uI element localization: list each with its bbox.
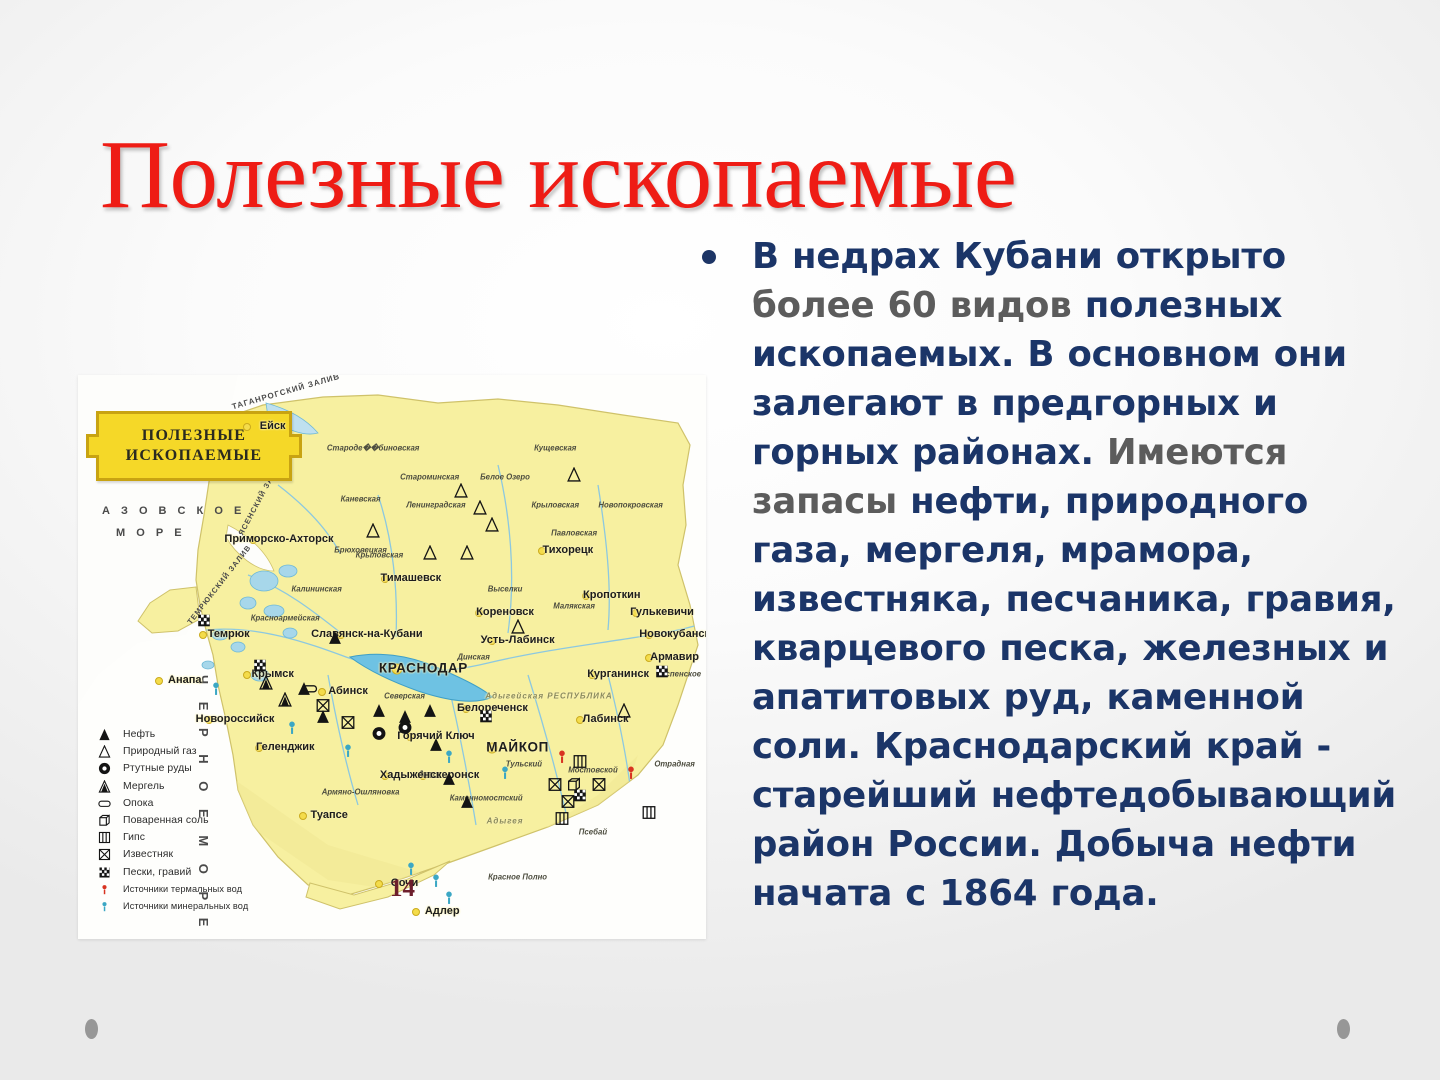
city-label: Ейск xyxy=(260,420,286,432)
city-label: Кропоткин xyxy=(583,589,641,601)
city-label: Староминская xyxy=(400,472,459,481)
cube-map-marker xyxy=(567,777,582,797)
outline-triangle-map-marker xyxy=(485,517,500,537)
page-number: 14 xyxy=(390,875,415,903)
city-label: Крыловская xyxy=(531,500,579,509)
city-label: Северская xyxy=(384,692,425,701)
legend-label: Нефть xyxy=(123,729,155,740)
outline-triangle-map-marker xyxy=(366,523,381,543)
legend-row-red-pin: Источники термальных вод xyxy=(94,881,324,898)
slide-root: Полезные ископаемые В недрах Кубани откр… xyxy=(0,0,1440,1080)
city-label: Брюховецкая xyxy=(334,545,387,554)
outline-triangle-map-marker xyxy=(617,703,632,723)
crossed-square-icon xyxy=(94,847,114,862)
legend-row-split-square: Гипс xyxy=(94,829,324,846)
city-label: Динская xyxy=(457,653,489,662)
city-marker-dot xyxy=(412,908,420,916)
city-label: Абинск xyxy=(328,685,368,697)
legend-row-rounded-rect: Опока xyxy=(94,795,324,812)
legend-label: Опока xyxy=(123,798,154,809)
decorative-dot-right xyxy=(1337,1019,1350,1039)
rounded-rect-map-marker xyxy=(303,681,318,701)
red-pin-map-marker xyxy=(623,765,638,785)
paragraph-segment-0: В недрах Кубани открыто xyxy=(752,236,1286,277)
legend-label: Поваренная соль xyxy=(123,815,209,826)
page-title: Полезные ископаемые xyxy=(100,126,1410,223)
city-label: Малякская xyxy=(553,602,595,611)
legend-label: Гипс xyxy=(123,832,145,843)
city-label: КРАСНОДАР xyxy=(379,661,468,676)
city-label: Курганинск xyxy=(587,668,649,680)
filled-triangle-map-marker xyxy=(460,794,475,814)
city-label: Темрюк xyxy=(208,628,250,640)
checker-square-icon xyxy=(94,865,114,880)
paragraph-segment-4: нефти, природного газа, мергеля, мрамора… xyxy=(752,481,1396,914)
city-label: Новопокровская xyxy=(598,500,663,509)
filled-triangle-map-marker xyxy=(328,630,343,650)
city-label: Староде��биновская xyxy=(327,444,419,453)
red-pin-icon xyxy=(94,882,114,897)
crossed-square-map-marker xyxy=(592,777,607,797)
city-marker-dot xyxy=(318,688,326,696)
filled-ring-map-marker xyxy=(372,726,387,746)
filled-ring-map-marker xyxy=(397,720,412,740)
legend-label: Ртутные руды xyxy=(123,763,192,774)
city-label: Приморско-Ахторск xyxy=(224,533,333,545)
legend-label: Пески, гравий xyxy=(123,867,191,878)
city-label: Адыгея xyxy=(487,816,524,825)
bullet-list-item: В недрах Кубани открыто более 60 видов п… xyxy=(694,232,1406,918)
city-label: Кореновск xyxy=(476,606,534,618)
city-label: Калининская xyxy=(291,585,341,594)
paragraph-segment-1: более 60 видов xyxy=(752,285,1085,326)
city-label: Псебай xyxy=(579,827,607,836)
filled-triangle-map-marker xyxy=(372,703,387,723)
city-marker-dot xyxy=(375,880,383,888)
city-label: Выселки xyxy=(488,585,523,594)
map-legend: НефтьПриродный газРтутные рудыМергельОпо… xyxy=(94,726,324,915)
legend-label: Известняк xyxy=(123,849,173,860)
checker-square-map-marker xyxy=(479,709,494,729)
legend-row-checker-square: Пески, гравий xyxy=(94,863,324,880)
city-marker-dot xyxy=(243,423,251,431)
city-label: Белое Озеро xyxy=(480,472,530,481)
legend-row-filled-triangle: Нефть xyxy=(94,726,324,743)
city-label: Анапа xyxy=(168,674,201,686)
split-square-icon xyxy=(94,830,114,845)
outline-triangle-map-marker xyxy=(460,545,475,565)
legend-row-half-triangle: Мергель xyxy=(94,778,324,795)
city-label: Армавир xyxy=(650,651,699,663)
legend-row-outline-triangle: Природный газ xyxy=(94,743,324,760)
filled-ring-icon xyxy=(94,761,114,776)
city-label: Каневская xyxy=(341,495,381,504)
split-square-map-marker xyxy=(642,805,657,825)
outline-triangle-icon xyxy=(94,744,114,759)
bullet-dot-icon xyxy=(702,250,716,264)
crossed-square-map-marker xyxy=(341,715,356,735)
filled-triangle-map-marker xyxy=(422,703,437,723)
half-triangle-icon xyxy=(94,779,114,794)
outline-triangle-map-marker xyxy=(510,619,525,639)
city-label: Новороссийск xyxy=(196,713,275,725)
outline-triangle-map-marker xyxy=(422,545,437,565)
body-text-block: В недрах Кубани открыто более 60 видов п… xyxy=(694,232,1406,918)
split-square-map-marker xyxy=(573,754,588,774)
blue-pin-map-marker xyxy=(498,765,513,785)
city-label: Красноармейская xyxy=(251,613,320,622)
filled-triangle-icon xyxy=(94,727,114,742)
city-marker-dot xyxy=(243,671,251,679)
legend-row-blue-pin: Источники минеральных вод xyxy=(94,898,324,915)
filled-triangle-map-marker xyxy=(441,771,456,791)
map-image[interactable]: А З О В С К О Е М О Р Е Ч Е Р Н О Е М О … xyxy=(78,375,706,939)
city-label: Павловская xyxy=(551,528,597,537)
city-label: Тимашевск xyxy=(381,572,442,584)
sea-label-azov-line1: А З О В С К О Е xyxy=(102,505,245,517)
city-label: Новокубанск xyxy=(639,628,706,640)
blue-pin-map-marker xyxy=(341,743,356,763)
red-pin-map-marker xyxy=(554,749,569,769)
paragraph-text: В недрах Кубани открыто более 60 видов п… xyxy=(752,232,1406,918)
city-label: Кущевская xyxy=(534,444,576,453)
city-label: Армяно-Ошляновка xyxy=(322,788,400,797)
legend-label: Источники минеральных вод xyxy=(123,901,248,911)
legend-label: Источники термальных вод xyxy=(123,884,242,894)
city-label: Тихорецк xyxy=(542,544,593,556)
blue-pin-map-marker xyxy=(209,681,224,701)
cube-icon xyxy=(94,813,114,828)
city-marker-dot xyxy=(155,677,163,685)
city-label: Гулькевичи xyxy=(630,606,694,618)
outline-triangle-map-marker xyxy=(567,467,582,487)
blue-pin-map-marker xyxy=(441,890,456,910)
checker-square-map-marker xyxy=(196,613,211,633)
outline-triangle-map-marker xyxy=(454,483,469,503)
sea-label-azov-line2: М О Р Е xyxy=(116,527,186,539)
city-label: Адыгейская РЕСПУБЛИКА xyxy=(485,692,612,701)
blue-pin-icon xyxy=(94,899,114,914)
legend-label: Природный газ xyxy=(123,746,197,757)
checker-square-map-marker xyxy=(253,658,268,678)
split-square-map-marker xyxy=(554,811,569,831)
map-title-line1: ПОЛЕЗНЫЕ xyxy=(142,426,247,446)
legend-row-cube: Поваренная соль xyxy=(94,812,324,829)
legend-row-filled-ring: Ртутные руды xyxy=(94,760,324,777)
city-label: Хадыженск xyxy=(380,769,442,781)
rounded-rect-icon xyxy=(94,796,114,811)
checker-square-map-marker xyxy=(655,664,670,684)
decorative-dot-left xyxy=(85,1019,98,1039)
half-triangle-map-marker xyxy=(278,692,293,712)
map-title-line2: ИСКОПАЕМЫЕ xyxy=(126,446,263,466)
city-label: Отрадная xyxy=(654,760,695,769)
legend-label: Мергель xyxy=(123,781,165,792)
city-label: Красное Полно xyxy=(488,872,547,881)
city-label: МАЙКОП xyxy=(486,740,549,755)
legend-row-crossed-square: Известняк xyxy=(94,846,324,863)
blue-pin-map-marker xyxy=(441,749,456,769)
